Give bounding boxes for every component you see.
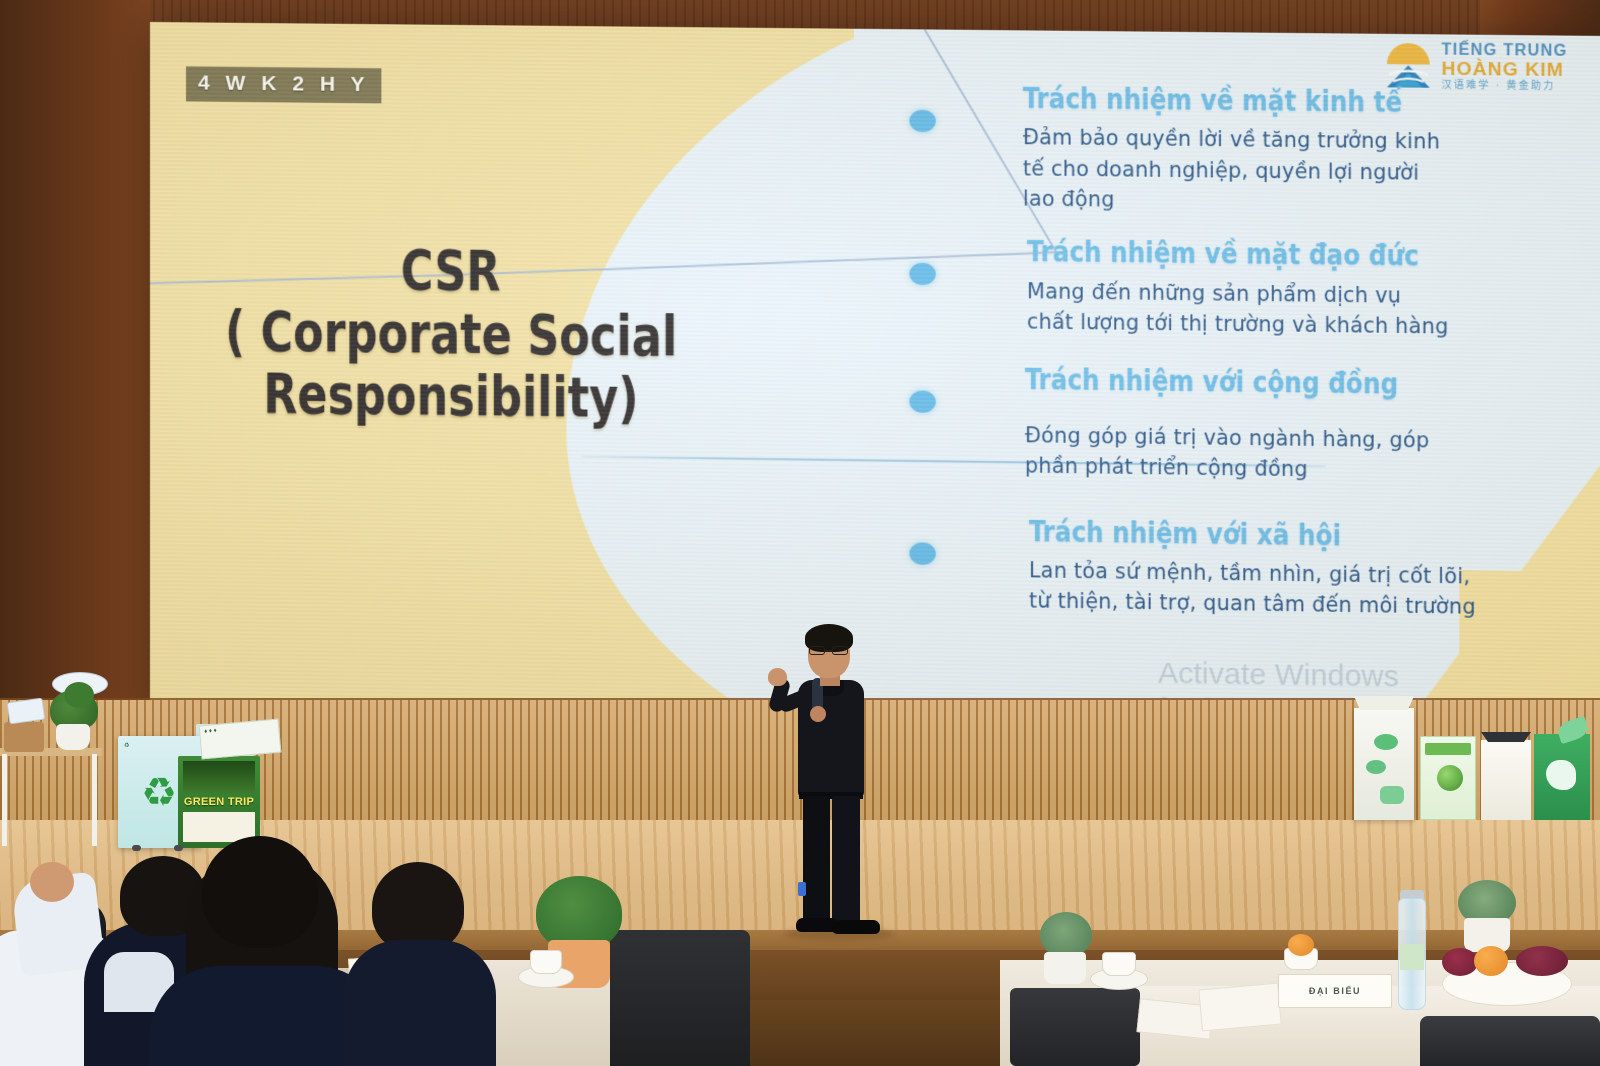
presenter-right-hand xyxy=(810,706,826,722)
audience-person-0-hand xyxy=(30,862,74,902)
glasses-icon xyxy=(808,646,850,655)
coffee-cup xyxy=(1102,952,1136,976)
paper-carton-model-2 xyxy=(1420,736,1476,820)
coffee-cup xyxy=(530,950,562,974)
side-table-legs xyxy=(0,754,100,846)
slide-title-line-1: CSR xyxy=(221,238,681,306)
bullet-dot-icon xyxy=(909,390,935,412)
wall-left-panel xyxy=(0,0,150,700)
table-plant-left xyxy=(536,876,622,950)
bullet-text: Mang đến những sản phẩm dịch vụ chất lượ… xyxy=(1027,276,1454,342)
chair-back-center xyxy=(610,930,750,1066)
paper-carton-model-1 xyxy=(1354,708,1414,820)
slide-title-line-3: Responsibility) xyxy=(221,363,681,432)
poster-handwritten-text: ♦ ♦ ♦ xyxy=(204,723,274,737)
floor-marker xyxy=(798,882,806,896)
chair-back-right xyxy=(1010,988,1140,1066)
screenshot-root: 4 W K 2 H Y TIẾNG TRUNG HOÀNG KIM xyxy=(0,0,1600,1066)
brand-logo: TIẾNG TRUNG HOÀNG KIM 汉语难学 · 黄金助力 xyxy=(1382,42,1567,92)
audience-person-3-body xyxy=(344,940,496,1066)
bullet-dot-icon xyxy=(909,110,935,132)
carton-top-fold xyxy=(1354,696,1414,710)
table-succulent-pot-right xyxy=(1044,952,1086,984)
bullet-heading: Trách nhiệm về mặt đạo đức xyxy=(1027,236,1542,273)
slide-title: CSR ( Corporate Social Responsibility) xyxy=(221,238,681,432)
list-item: Trách nhiệm với cộng đồng Đóng góp giá t… xyxy=(909,362,1580,489)
bullet-dot-icon xyxy=(909,542,935,564)
list-item: Trách nhiệm về mặt đạo đức Mang đến nhữn… xyxy=(909,235,1580,344)
orange-fruit-2 xyxy=(1288,934,1314,956)
poster-handwritten-card: ♦ ♦ ♦ xyxy=(199,719,282,760)
logo-line-1: TIẾNG TRUNG xyxy=(1442,42,1568,59)
bonsai-plant-top xyxy=(64,682,94,708)
presenter-left-hand xyxy=(768,668,787,686)
list-item: Trách nhiệm về mặt kinh tế Đảm bảo quyền… xyxy=(909,82,1580,221)
bullet-heading: Trách nhiệm với cộng đồng xyxy=(1025,363,1542,400)
water-bottle-label xyxy=(1400,944,1424,970)
sunrise-mountain-logo-icon xyxy=(1382,43,1433,90)
delegate-name-card-text: ĐẠI BIỂU xyxy=(1309,986,1361,996)
poster-green-trip-title: GREEN TRIP xyxy=(178,796,260,808)
paper-carton-model-4 xyxy=(1534,734,1590,820)
poster-recycle-text: ♻ xyxy=(124,742,196,750)
audience-person-2-head xyxy=(202,836,318,948)
carton-open-top xyxy=(1481,732,1531,742)
slide-bullet-list: Trách nhiệm về mặt kinh tế Đảm bảo quyền… xyxy=(909,82,1580,647)
presenter-right-leg xyxy=(832,796,860,924)
presenter-left-leg xyxy=(803,796,830,924)
cardboard-box-small xyxy=(4,722,44,752)
bullet-text: Đảm bảo quyền lời về tăng trưởng kinh tế… xyxy=(1023,122,1450,218)
delegate-name-card: ĐẠI BIỂU xyxy=(1278,974,1392,1008)
orange-fruit xyxy=(1474,946,1508,976)
handout-paper-right-1 xyxy=(1198,983,1281,1032)
bullet-text: Lan tỏa sứ mệnh, tầm nhìn, giá trị cốt l… xyxy=(1029,555,1477,622)
grapes-right xyxy=(1516,946,1568,976)
logo-line-2: HOÀNG KIM xyxy=(1442,60,1568,80)
list-item: Trách nhiệm với xã hội Lan tỏa sứ mệnh, … xyxy=(909,514,1580,624)
poster-green-trip-image xyxy=(183,761,255,793)
bullet-text: Đóng góp giá trị vào ngành hàng, góp phầ… xyxy=(1025,420,1452,487)
plant-pot xyxy=(56,724,90,750)
slide-title-line-2: ( Corporate Social xyxy=(221,301,681,369)
grapes-left xyxy=(1442,948,1478,976)
overlay-code-chip: 4 W K 2 H Y xyxy=(186,66,382,103)
bullet-heading: Trách nhiệm về mặt kinh tế xyxy=(1023,83,1542,119)
paper-carton-model-3 xyxy=(1481,740,1531,820)
presenter-right-shoe xyxy=(832,920,880,934)
bullet-dot-icon xyxy=(909,263,935,285)
presenter-speaker xyxy=(770,620,900,940)
bullet-heading: Trách nhiệm với xã hội xyxy=(1029,515,1542,553)
poster-green-trip: GREEN TRIP xyxy=(178,756,260,848)
audience-person-3-head xyxy=(372,862,464,952)
chair-back-far-right xyxy=(1420,1016,1600,1066)
